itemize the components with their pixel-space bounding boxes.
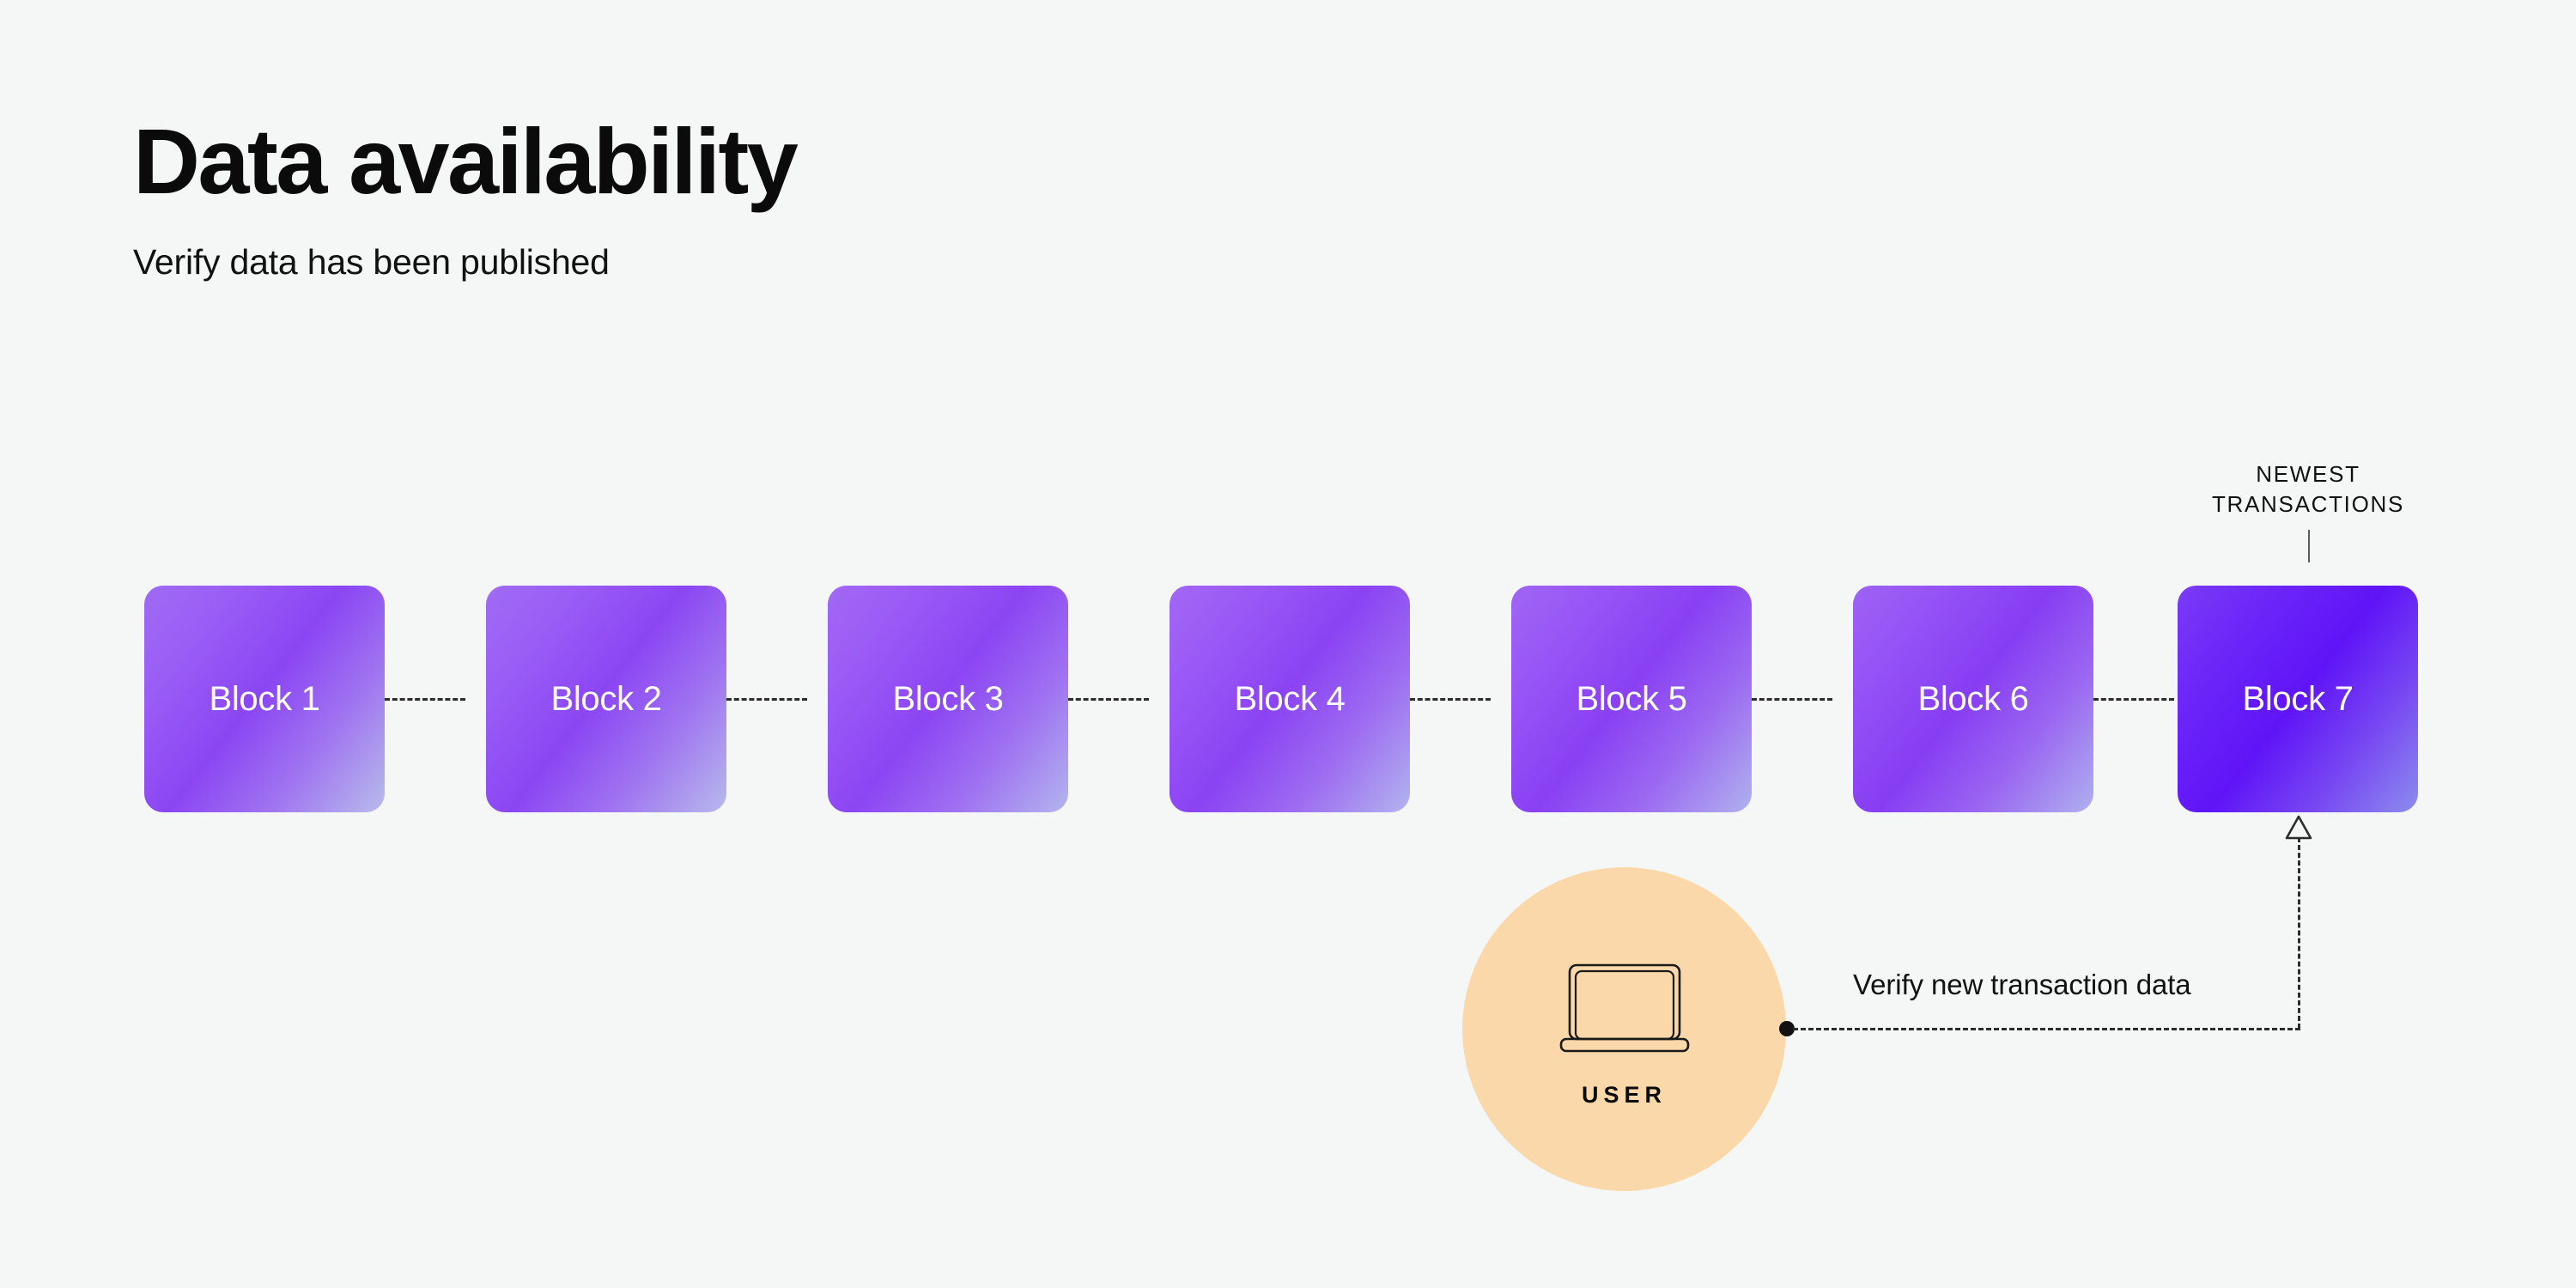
header: Data availability Verify data has been p… [133,112,796,283]
arrow-up-icon [2285,814,2312,840]
block-3-label: Block 3 [892,680,1003,719]
verify-flow-label: Verify new transaction data [1853,969,2191,1001]
block-2[interactable]: Block 2 [486,586,726,812]
block-connector-1-2 [385,698,465,701]
block-connector-6-7 [2093,698,2174,701]
block-connector-2-3 [726,698,807,701]
laptop-icon [1559,963,1690,1056]
block-connector-5-6 [1752,698,1832,701]
block-1-label: Block 1 [209,680,319,719]
newest-transactions-line-2: TRANSACTIONS [2171,489,2445,519]
block-2-label: Block 2 [550,680,661,719]
block-4-label: Block 4 [1234,680,1345,719]
page-title: Data availability [133,112,796,212]
block-6-label: Block 6 [1917,680,2028,719]
user-node[interactable]: USER [1462,867,1786,1191]
diagram-canvas: Data availability Verify data has been p… [0,0,2576,1288]
newest-transactions-line-1: NEWEST [2171,459,2445,489]
newest-transactions-tick-line [2308,530,2310,562]
block-4[interactable]: Block 4 [1170,586,1410,812]
user-node-label: USER [1582,1082,1667,1109]
block-1[interactable]: Block 1 [144,586,385,812]
block-5-label: Block 5 [1576,680,1686,719]
verify-flow-line-vertical [2298,837,2300,1029]
block-7-label: Block 7 [2242,680,2353,719]
blockchain-row: Block 1 Block 2 Block 3 Block 4 Block 5 … [144,586,2418,812]
block-3[interactable]: Block 3 [828,586,1068,812]
block-connector-3-4 [1068,698,1149,701]
block-5[interactable]: Block 5 [1511,586,1752,812]
verify-flow-line-horizontal [1793,1028,2300,1030]
newest-transactions-label: NEWEST TRANSACTIONS [2171,459,2445,519]
page-subtitle: Verify data has been published [133,241,796,283]
block-7[interactable]: Block 7 [2178,586,2418,812]
newest-transactions-annotation: NEWEST TRANSACTIONS [2171,459,2445,519]
block-connector-4-5 [1410,698,1491,701]
block-6[interactable]: Block 6 [1853,586,2093,812]
